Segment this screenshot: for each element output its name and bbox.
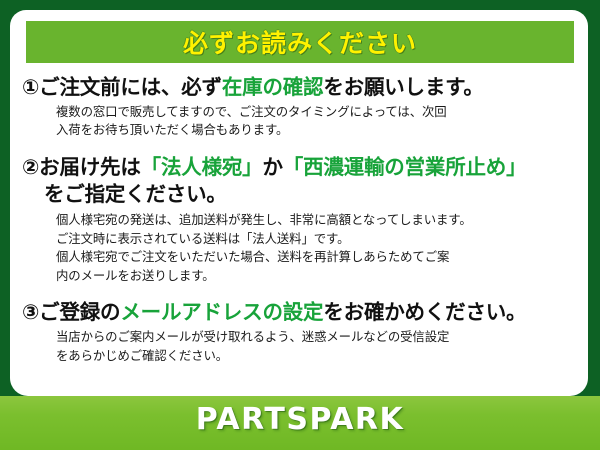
notice-item-1: ①ご注文前には、必ず在庫の確認をお願いします。 複数の窓口で販売してますので、ご…: [22, 74, 578, 140]
notice-item-3-body-line-1: をあらかじめご確認ください。: [56, 347, 578, 366]
notice-item-3-heading-part-2: をお確かめください。: [323, 300, 526, 324]
notice-item-1-heading: ①ご注文前には、必ず在庫の確認をお願いします。: [22, 74, 578, 101]
notice-item-1-body-line-1: 入荷をお待ち頂いただく場合もあります。: [56, 121, 578, 140]
notice-item-2: ②お届け先は「法人様宛」か「西濃運輸の営業所止め」 をご指定ください。 個人様宅…: [22, 154, 578, 286]
title-banner: 必ずお読みください: [26, 21, 574, 63]
notice-item-2-body-line-1: ご注文時に表示されている送料は「法人送料」です。: [56, 230, 578, 249]
notice-item-1-heading-part-2: をお願いします。: [323, 75, 483, 99]
notice-content: ①ご注文前には、必ず在庫の確認をお願いします。 複数の窓口で販売してますので、ご…: [10, 72, 588, 368]
notice-item-1-heading-part-0: ①ご注文前には、必ず: [22, 75, 222, 99]
notice-item-3: ③ご登録のメールアドレスの設定をお確かめください。 当店からのご案内メールが受け…: [22, 299, 578, 366]
notice-item-1-body: 複数の窓口で販売してますので、ご注文のタイミングによっては、次回 入荷をお待ち頂…: [22, 103, 578, 140]
notice-item-2-body-line-3: 内のメールをお送りします。: [56, 267, 578, 286]
brand-logo: PARTSPARK: [0, 402, 600, 437]
notice-item-2-body-line-2: 個人様宅宛でご注文をいただいた場合、送料を再計算しあらためてご案: [56, 248, 578, 267]
notice-panel: 必ずお読みください ①ご注文前には、必ず在庫の確認をお願いします。 複数の窓口で…: [10, 10, 588, 396]
notice-item-3-heading: ③ご登録のメールアドレスの設定をお確かめください。: [22, 299, 578, 326]
notice-item-2-heading-highlight-2: 「西濃運輸の営業所止め」: [283, 155, 527, 179]
outer-frame: 必ずお読みください ①ご注文前には、必ず在庫の確認をお願いします。 複数の窓口で…: [0, 0, 600, 450]
notice-item-2-body-line-0: 個人様宅宛の発送は、追加送料が発生し、非常に高額となってしまいます。: [56, 211, 578, 230]
notice-item-3-heading-part-0: ③ご登録の: [22, 300, 120, 324]
notice-item-2-heading-line2: をご指定ください。: [22, 181, 578, 208]
notice-item-2-heading: ②お届け先は「法人様宛」か「西濃運輸の営業所止め」: [22, 154, 578, 181]
notice-item-2-heading-highlight-1: 「法人様宛」: [141, 155, 263, 179]
notice-item-2-heading-part-2: か: [262, 155, 282, 179]
page-title: 必ずお読みください: [183, 24, 417, 60]
notice-item-3-body-line-0: 当店からのご案内メールが受け取れるよう、迷惑メールなどの受信設定: [56, 328, 578, 347]
notice-item-3-body: 当店からのご案内メールが受け取れるよう、迷惑メールなどの受信設定 をあらかじめご…: [22, 328, 578, 365]
notice-item-1-body-line-0: 複数の窓口で販売してますので、ご注文のタイミングによっては、次回: [56, 103, 578, 122]
notice-item-1-heading-highlight: 在庫の確認: [222, 75, 324, 99]
notice-item-2-heading-part-0: ②お届け先は: [22, 155, 141, 179]
notice-item-2-body: 個人様宅宛の発送は、追加送料が発生し、非常に高額となってしまいます。 ご注文時に…: [22, 211, 578, 285]
notice-item-3-heading-highlight: メールアドレスの設定: [120, 300, 323, 324]
